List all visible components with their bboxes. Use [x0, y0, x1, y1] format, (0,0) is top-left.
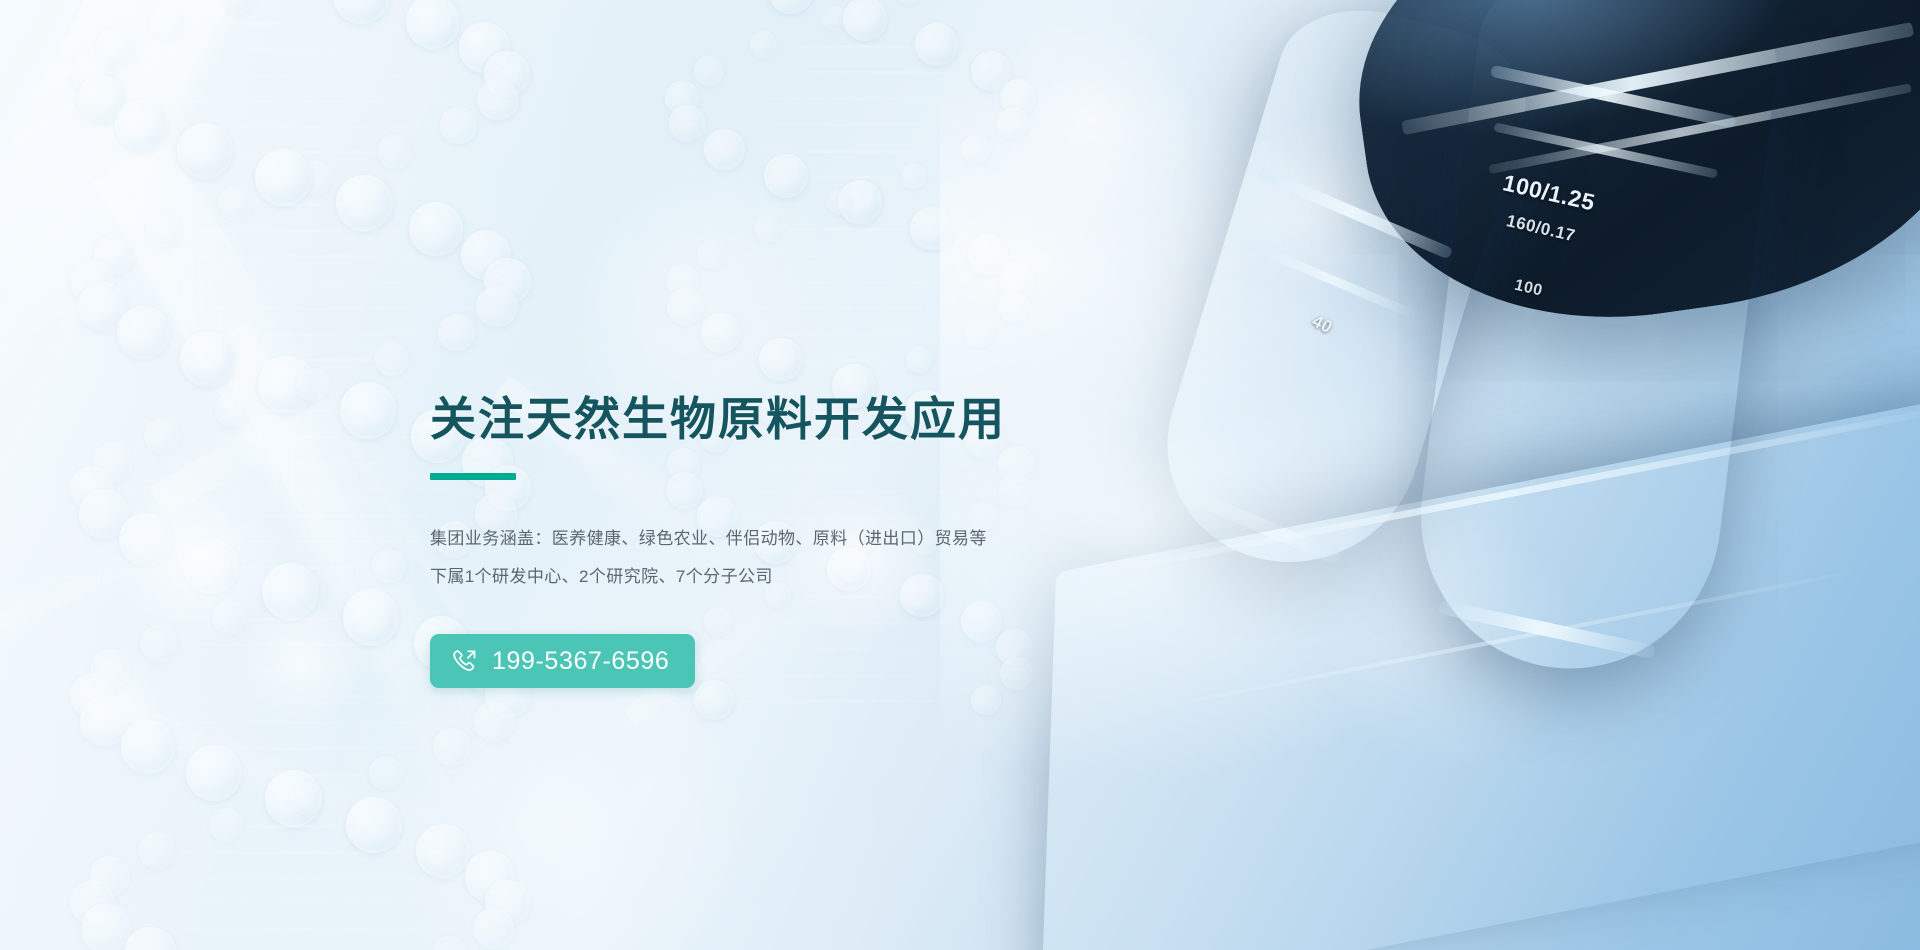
outgoing-call-icon: [452, 648, 478, 674]
hero-description: 集团业务涵盖：医养健康、绿色农业、伴侣动物、原料（进出口）贸易等 下属1个研发中…: [430, 480, 1210, 596]
hero-banner: 40 100/1.25 160/0.17 100 关注天然生物原料开发应用 集团…: [0, 0, 1920, 950]
page-title: 关注天然生物原料开发应用: [430, 392, 1210, 446]
hero-description-line-1: 集团业务涵盖：医养健康、绿色农业、伴侣动物、原料（进出口）贸易等: [430, 520, 1210, 558]
phone-number-label: 199-5367-6596: [492, 649, 669, 674]
phone-cta-button[interactable]: 199-5367-6596: [430, 634, 695, 688]
hero-content: 关注天然生物原料开发应用 集团业务涵盖：医养健康、绿色农业、伴侣动物、原料（进出…: [430, 392, 1210, 688]
hero-description-line-2: 下属1个研发中心、2个研究院、7个分子公司: [430, 558, 1210, 596]
title-divider: [430, 473, 516, 480]
